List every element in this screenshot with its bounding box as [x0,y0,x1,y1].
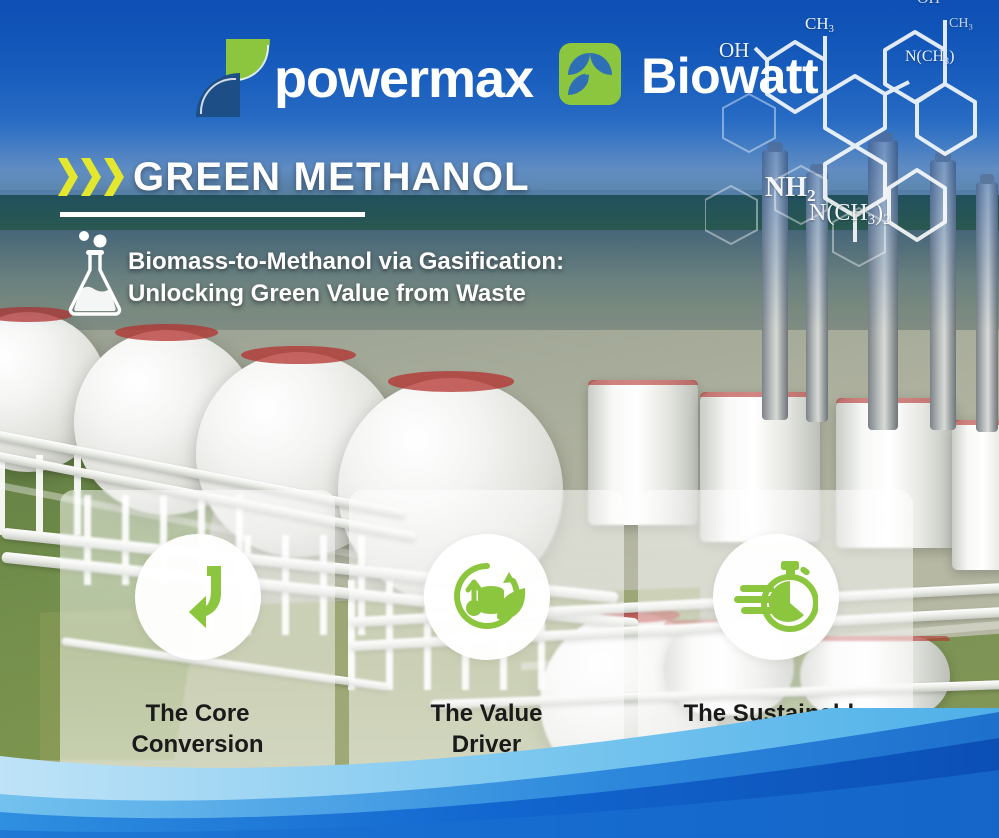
chevron-group [58,158,124,196]
cylindrical-tank [952,420,999,570]
chevron-right-icon [81,158,101,196]
title-underline-rule [60,212,365,217]
biowatt-leaf-logo-icon [559,43,621,105]
page-subtitle: Biomass-to-Methanol via Gasification: Un… [128,246,564,309]
subtitle-line-1: Biomass-to-Methanol via Gasification: [128,246,564,278]
icon-badge [713,534,839,660]
subtitle-line-2: Unlocking Green Value from Waste [128,278,564,310]
biowatt-leaf-bottom-left [568,73,590,95]
icon-badge [135,534,261,660]
powermax-blue-leaf [196,73,240,117]
biowatt-wordmark: Biowatt [641,47,818,105]
brand-logo-row: powermax Biowatt [196,32,818,116]
powermax-leaf-logo-icon [196,37,270,111]
coins-leaf-growth-icon [447,560,527,634]
chevron-right-icon [58,158,78,196]
blue-wave-decoration [0,708,999,838]
page-title: GREEN METHANOL [133,155,530,200]
recycle-arrows-icon [159,558,237,636]
powermax-wordmark: powermax [274,52,533,106]
icon-badge [424,534,550,660]
flask-icon-svg [64,228,126,318]
stopwatch-speed-icon [734,559,818,635]
flask-icon [64,228,126,318]
chevron-right-icon [104,158,124,196]
poster-canvas: OH CH3 N(CH3) NH2 N(CH3)2 OH CH3 powerma… [0,0,999,838]
